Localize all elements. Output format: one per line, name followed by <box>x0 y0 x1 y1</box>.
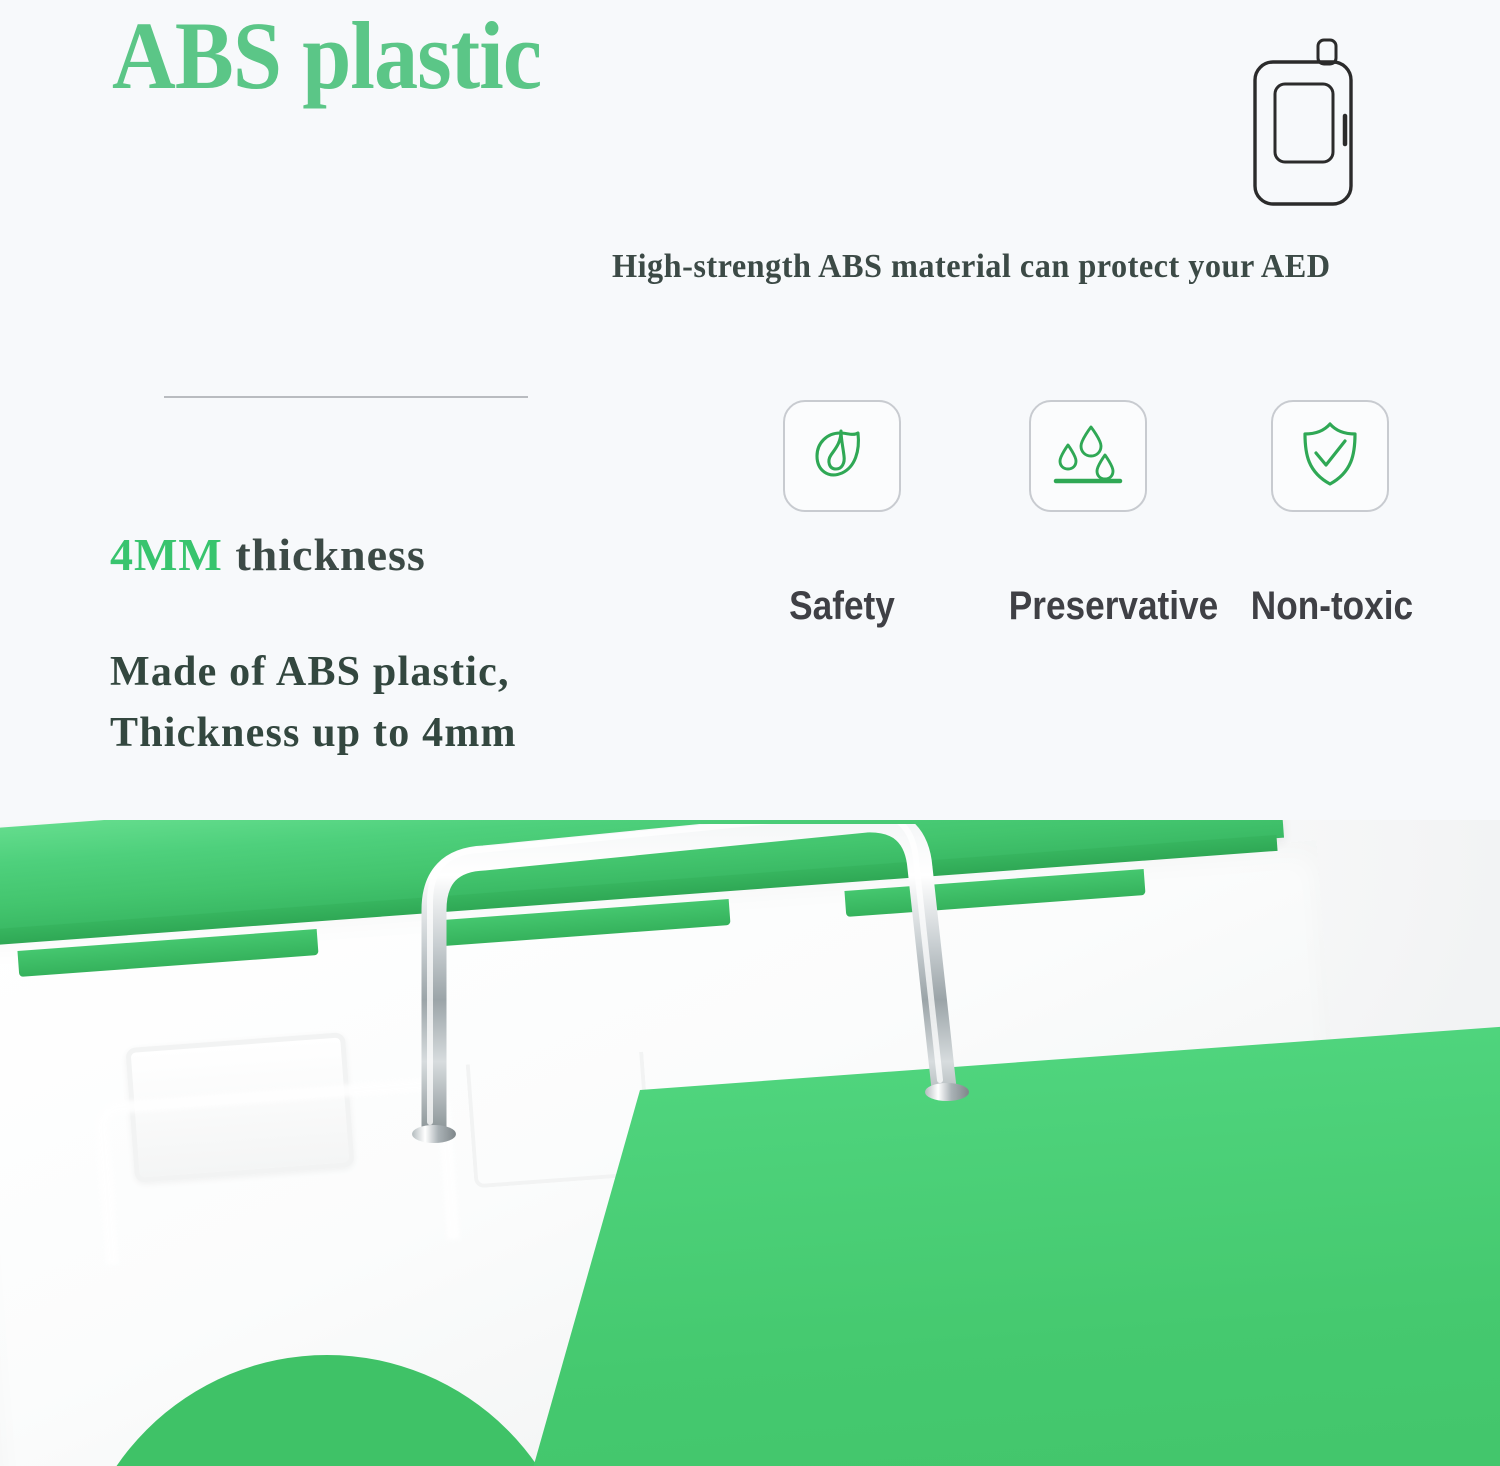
feature-icon-box <box>1029 400 1147 512</box>
thickness-heading: 4MM thickness <box>110 528 426 581</box>
page-title: ABS plastic <box>112 6 541 107</box>
thickness-body-text: Made of ABS plastic, Thickness up to 4mm <box>110 642 517 764</box>
leaf-sprout-icon <box>811 423 873 490</box>
thickness-heading-accent: 4MM <box>110 529 223 580</box>
feature-safety: Safety <box>752 400 932 629</box>
subtitle: High-strength ABS material can protect y… <box>612 248 1331 286</box>
thickness-heading-rest: thickness <box>223 529 426 580</box>
product-feature-panel: ABS plastic High-strength ABS material c… <box>0 0 1500 1466</box>
feature-list: Safety <box>752 400 1412 640</box>
feature-label: Safety <box>763 584 921 629</box>
divider <box>164 396 528 398</box>
water-droplets-repellent-icon <box>1053 421 1123 492</box>
feature-preservative: Preservative <box>998 400 1178 629</box>
stainless-steel-handle <box>404 824 984 1144</box>
shield-check-icon <box>1299 420 1361 493</box>
feature-label: Non-toxic <box>1251 584 1409 629</box>
info-area: ABS plastic High-strength ABS material c… <box>0 0 1500 820</box>
aed-device-icon <box>1249 38 1357 208</box>
feature-label: Preservative <box>1009 584 1167 629</box>
feature-non-toxic: Non-toxic <box>1240 400 1420 629</box>
feature-icon-box <box>783 400 901 512</box>
feature-icon-box <box>1271 400 1389 512</box>
aed-cabinet-product-photo <box>0 790 1500 1466</box>
